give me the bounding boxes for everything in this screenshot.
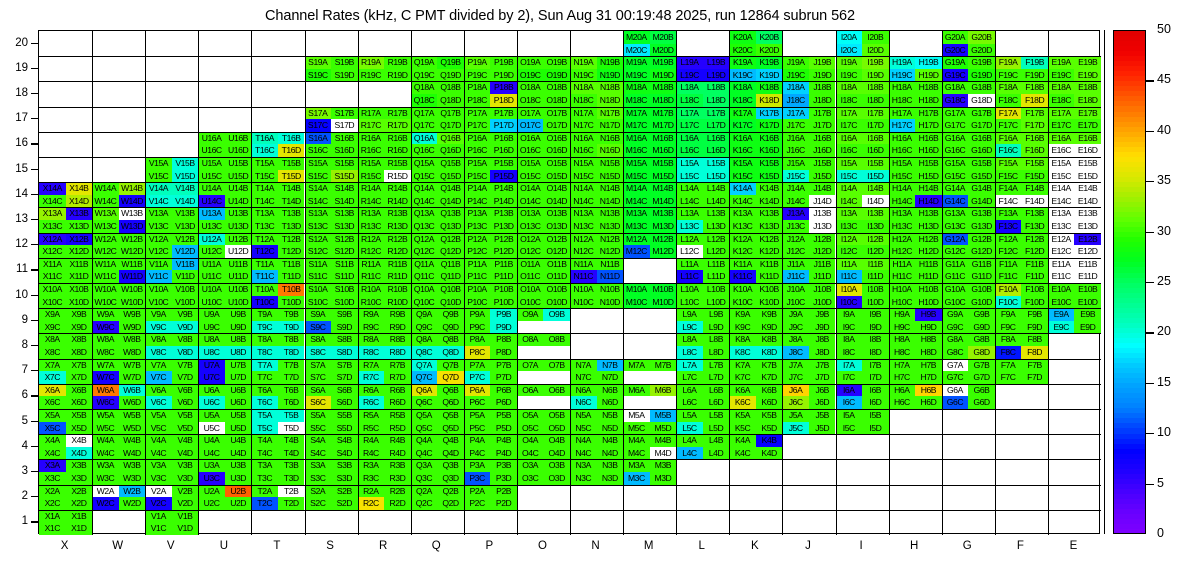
channel-S17B: S17B [331,107,358,120]
channel-E9B: E9B [1074,308,1101,321]
channel-N18C: N18C [570,94,597,107]
channel-S17C: S17C [305,119,332,132]
channel-H12C: H12C [889,245,916,258]
channel-X1D: X1D [66,522,93,535]
channel-G16B: G16B [968,132,995,145]
channel-U5A: U5A [198,409,225,422]
channel-H14B: H14B [915,182,942,195]
channel-N13D: N13D [597,220,624,233]
channel-U7B: U7B [225,359,252,372]
channel-Q16C: Q16C [411,144,438,157]
grid-line-horizontal [39,333,1101,334]
channel-M13C: M13C [623,220,650,233]
y-axis-label-8: 8 [0,339,28,351]
channel-F10B: F10B [1021,283,1048,296]
channel-T3B: T3B [278,459,305,472]
channel-S15D: S15D [331,170,358,183]
channel-X9A: X9A [39,308,66,321]
channel-J8B: J8B [809,333,836,346]
channel-L17B: L17B [703,107,730,120]
channel-O4D: O4D [543,447,570,460]
channel-P12C: P12C [464,245,491,258]
channel-M12D: M12D [650,245,677,258]
channel-W5B: W5B [119,409,146,422]
channel-Q19C: Q19C [411,69,438,82]
channel-L7D: L7D [703,371,730,384]
y-axis-label-18: 18 [0,87,28,99]
channel-X8A: X8A [39,333,66,346]
channel-S9A: S9A [305,308,332,321]
channel-W13A: W13A [92,207,119,220]
channel-V12A: V12A [145,233,172,246]
y-axis-label-3: 3 [0,465,28,477]
grid-cell: R14AR14BR14CR14D [358,182,411,207]
grid-cell: T15AT15BT15CT15D [251,157,304,182]
grid-cell: G10AG10BG10CG10D [942,283,995,308]
grid-cell: S7AS7BS7CS7D [305,359,358,384]
grid-cell: R15AR15BR15CR15D [358,157,411,182]
channel-K12B: K12B [756,233,783,246]
channel-I9B: I9B [862,308,889,321]
channel-I18C: I18C [836,94,863,107]
channel-J17B: J17B [809,107,836,120]
channel-U5B: U5B [225,409,252,422]
channel-P13C: P13C [464,220,491,233]
channel-E17B: E17B [1074,107,1101,120]
channel-H9A: H9A [889,308,916,321]
channel-P7A: P7A [464,359,491,372]
grid-cell: G6AG6BG6CG6D [942,384,995,409]
grid-cell: M7AM7B [623,359,676,384]
grid-cell: H7AH7BH7CH7D [889,359,942,384]
channel-T2A: T2A [251,485,278,498]
channel-H18C: H18C [889,94,916,107]
channel-V3C: V3C [145,472,172,485]
channel-L5A: L5A [676,409,703,422]
channel-M18C: M18C [623,94,650,107]
channel-K12C: K12C [729,245,756,258]
grid-cell: P18AP18BP18CP18D [464,81,517,106]
channel-M15A: M15A [623,157,650,170]
channel-I16A: I16A [836,132,863,145]
channel-X11C: X11C [39,270,66,283]
channel-R4B: R4B [384,434,411,447]
channel-N13A: N13A [570,207,597,220]
channel-W3B: W3B [119,459,146,472]
channel-L18B: L18B [703,81,730,94]
channel-S6A: S6A [305,384,332,397]
grid-cell: L4AL4BL4CL4D [676,434,729,459]
channel-O18A: O18A [517,81,544,94]
channel-K7C: K7C [729,371,756,384]
channel-W8B: W8B [119,333,146,346]
channel-V7C: V7C [145,371,172,384]
channel-S3D: S3D [331,472,358,485]
grid-cell: H10AH10BH10CH10D [889,283,942,308]
channel-X10D: X10D [66,296,93,309]
channel-M12A: M12A [623,233,650,246]
grid-cell: W5AW5BW5CW5D [92,409,145,434]
grid-cell: Q19AQ19BQ19CQ19D [411,56,464,81]
channel-E13B: E13B [1074,207,1101,220]
channel-U11A: U11A [198,258,225,271]
channel-H16A: H16A [889,132,916,145]
y-axis-label-14: 14 [0,188,28,200]
channel-Q17B: Q17B [437,107,464,120]
grid-cell: O19AO19BO19CO19D [517,56,570,81]
grid-cell: V8AV8BV8CV8D [145,333,198,358]
channel-N16B: N16B [597,132,624,145]
channel-H9B: H9B [915,308,942,321]
grid-cell: R13AR13BR13CR13D [358,207,411,232]
channel-P17A: P17A [464,107,491,120]
channel-I8D: I8D [862,346,889,359]
channel-T14A: T14A [251,182,278,195]
channel-I7A: I7A [836,359,863,372]
channel-F11C: F11C [995,270,1022,283]
x-axis-label-L: L [682,540,722,552]
channel-I7C: I7C [836,371,863,384]
channel-U13A: U13A [198,207,225,220]
channel-S13D: S13D [331,220,358,233]
grid-cell: S13AS13BS13CS13D [305,207,358,232]
channel-V3A: V3A [145,459,172,472]
channel-L9B: L9B [703,308,730,321]
channel-R16B: R16B [384,132,411,145]
channel-Q17D: Q17D [437,119,464,132]
channel-M17A: M17A [623,107,650,120]
grid-cell: P7AP7BP7CP7D [464,359,517,384]
channel-V8D: V8D [172,346,199,359]
channel-K15D: K15D [756,170,783,183]
channel-N18D: N18D [597,94,624,107]
channel-O5A: O5A [517,409,544,422]
grid-cell: Q11AQ11BQ11CQ11D [411,258,464,283]
grid-cell: J12AJ12BJ12CJ12D [782,233,835,258]
channel-Q18C: Q18C [411,94,438,107]
channel-K18A: K18A [729,81,756,94]
channel-U3D: U3D [225,472,252,485]
channel-X10B: X10B [66,283,93,296]
channel-X8D: X8D [66,346,93,359]
channel-T14D: T14D [278,195,305,208]
channel-X12D: X12D [66,245,93,258]
channel-P18B: P18B [490,81,517,94]
channel-L16D: L16D [703,144,730,157]
grid-cell: I8AI8BI8CI8D [836,333,889,358]
channel-M20C: M20C [623,44,650,57]
channel-E9D: E9D [1074,321,1101,334]
channel-X4B: X4B [66,434,93,447]
channel-T10B: T10B [278,283,305,296]
channel-R2C: R2C [358,497,385,510]
channel-R19A: R19A [358,56,385,69]
channel-K13A: K13A [729,207,756,220]
grid-cell: L12AL12BL12CL12D [676,233,729,258]
channel-M12C: M12C [623,245,650,258]
grid-line-horizontal [39,485,1101,486]
channel-P6A: P6A [464,384,491,397]
channel-X5C: X5C [39,422,66,435]
channel-L11D: L11D [703,270,730,283]
channel-R7D: R7D [384,371,411,384]
channel-U13C: U13C [198,220,225,233]
channel-F17B: F17B [1021,107,1048,120]
grid-cell: F7AF7BF7CF7D [995,359,1048,384]
channel-H14C: H14C [889,195,916,208]
grid-cell: F13AF13BF13CF13D [995,207,1048,232]
channel-R13D: R13D [384,220,411,233]
grid-cell: I11AI11BI11CI11D [836,258,889,283]
channel-G11B: G11B [968,258,995,271]
channel-Q3C: Q3C [411,472,438,485]
channel-K18B: K18B [756,81,783,94]
channel-N4D: N4D [597,447,624,460]
channel-V7B: V7B [172,359,199,372]
grid-cell: T13AT13BT13CT13D [251,207,304,232]
channel-Q7A: Q7A [411,359,438,372]
channel-S7B: S7B [331,359,358,372]
channel-W5D: W5D [119,422,146,435]
grid-cell: R9AR9BR9CR9D [358,308,411,333]
grid-cell: L9AL9BL9CL9D [676,308,729,333]
channel-S4D: S4D [331,447,358,460]
grid-cell: P2AP2BP2CP2D [464,485,517,510]
channel-L6C: L6C [676,396,703,409]
grid-cell: R12AR12BR12CR12D [358,233,411,258]
channel-R7C: R7C [358,371,385,384]
channel-G14C: G14C [942,195,969,208]
channel-O12B: O12B [543,233,570,246]
channel-Q19D: Q19D [437,69,464,82]
channel-U14C: U14C [198,195,225,208]
grid-cell: N11AN11BN11CN11D [570,258,623,283]
channel-L18D: L18D [703,94,730,107]
channel-I14D: I14D [862,195,889,208]
grid-cell: X7AX7BX7CX7D [39,359,92,384]
channel-K5C: K5C [729,422,756,435]
y-axis-tick [31,43,38,44]
channel-M14D: M14D [650,195,677,208]
channel-L7A: L7A [676,359,703,372]
x-axis-label-K: K [735,540,775,552]
y-axis-label-12: 12 [0,238,28,250]
channel-T16B: T16B [278,132,305,145]
grid-cell: K17AK17BK17CK17D [729,107,782,132]
channel-W6C: W6C [92,396,119,409]
channel-F11A: F11A [995,258,1022,271]
channel-M3A: M3A [623,459,650,472]
channel-W5A: W5A [92,409,119,422]
channel-K4B: K4B [756,434,783,447]
channel-H17D: H17D [915,119,942,132]
channel-O16B: O16B [543,132,570,145]
channel-N14A: N14A [570,182,597,195]
channel-N17C: N17C [570,119,597,132]
channel-Q7D: Q7D [437,371,464,384]
channel-S17A: S17A [305,107,332,120]
channel-G8C: G8C [942,346,969,359]
channel-M14C: M14C [623,195,650,208]
grid-cell: I15AI15BI15CI15D [836,157,889,182]
channel-E16A: E16A [1048,132,1075,145]
grid-cell: M15AM15BM15CM15D [623,157,676,182]
grid-cell: K15AK15BK15CK15D [729,157,782,182]
channel-N17B: N17B [597,107,624,120]
channel-P12A: P12A [464,233,491,246]
x-axis-label-H: H [894,540,934,552]
channel-O9B: O9B [543,308,570,321]
channel-R2D: R2D [384,497,411,510]
channel-T7D: T7D [278,371,305,384]
channel-J7D: J7D [809,371,836,384]
channel-G7B: G7B [968,359,995,372]
grid-cell: O8AO8B [517,333,570,358]
grid-cell: N16AN16BN16CN16D [570,132,623,157]
channel-M6A: M6A [623,384,650,397]
channel-I15A: I15A [836,157,863,170]
channel-J17C: J17C [782,119,809,132]
channel-N3C: N3C [570,472,597,485]
channel-J10D: J10D [809,296,836,309]
channel-F12C: F12C [995,245,1022,258]
grid-cell: W11AW11BW11CW11D [92,258,145,283]
grid-cell [1048,333,1101,358]
channel-L18A: L18A [676,81,703,94]
channel-J13A: J13A [782,207,809,220]
grid-cell: G11AG11BG11CG11D [942,258,995,283]
channel-Q6A: Q6A [411,384,438,397]
grid-cell: R16AR16BR16CR16D [358,132,411,157]
channel-U14A: U14A [198,182,225,195]
grid-cell: U12AU12BU12CU12D [198,233,251,258]
grid-cell: I10AI10BI10CI10D [836,283,889,308]
channel-O18D: O18D [543,94,570,107]
channel-K12D: K12D [756,245,783,258]
channel-N7C: N7C [570,371,597,384]
x-axis-label-G: G [947,540,987,552]
channel-H17C: H17C [889,119,916,132]
channel-X6A: X6A [39,384,66,397]
channel-X1C: X1C [39,522,66,535]
y-axis-tick [31,370,38,371]
channel-R16C: R16C [358,144,385,157]
channel-R8D: R8D [384,346,411,359]
grid-cell: H15AH15BH15CH15D [889,157,942,182]
channel-R10B: R10B [384,283,411,296]
grid-cell: X12AX12BX12CX12D [39,233,92,258]
channel-Q7B: Q7B [437,359,464,372]
channel-N12C: N12C [570,245,597,258]
channel-T6D: T6D [278,396,305,409]
grid-cell: N13AN13BN13CN13D [570,207,623,232]
channel-P19C: P19C [464,69,491,82]
channel-J8A: J8A [782,333,809,346]
channel-G17C: G17C [942,119,969,132]
channel-S4B: S4B [331,434,358,447]
channel-K20A: K20A [729,31,756,44]
channel-K15C: K15C [729,170,756,183]
channel-I6D: I6D [862,396,889,409]
channel-N5D: N5D [597,422,624,435]
channel-E10B: E10B [1074,283,1101,296]
channel-U13B: U13B [225,207,252,220]
channel-V9B: V9B [172,308,199,321]
channel-V11B: V11B [172,258,199,271]
channel-L11C: L11C [676,270,703,283]
grid-cell: G9AG9BG9CG9D [942,308,995,333]
channel-T9D: T9D [278,321,305,334]
channel-Q5D: Q5D [437,422,464,435]
channel-R17D: R17D [384,119,411,132]
grid-cell: V9AV9BV9CV9D [145,308,198,333]
channel-R5B: R5B [384,409,411,422]
y-axis-tick [31,143,38,144]
grid-cell: P19AP19BP19CP19D [464,56,517,81]
grid-cell: E11AE11BE11CE11D [1048,258,1101,283]
grid-cell: S3AS3BS3CS3D [305,459,358,484]
channel-Q5A: Q5A [411,409,438,422]
channel-T15B: T15B [278,157,305,170]
channel-O6B: O6B [543,384,570,397]
channel-T6C: T6C [251,396,278,409]
channel-X14B: X14B [66,182,93,195]
channel-Q13A: Q13A [411,207,438,220]
channel-X11A: X11A [39,258,66,271]
channel-N17A: N17A [570,107,597,120]
channel-R10A: R10A [358,283,385,296]
channel-E11B: E11B [1074,258,1101,271]
channel-N6C: N6C [570,396,597,409]
grid-cell: O11AO11BO11CO11D [517,258,570,283]
channel-Q2C: Q2C [411,497,438,510]
channel-J7B: J7B [809,359,836,372]
channel-R8C: R8C [358,346,385,359]
channel-S19B: S19B [331,56,358,69]
channel-P4B: P4B [490,434,517,447]
channel-T9A: T9A [251,308,278,321]
channel-S2D: S2D [331,497,358,510]
grid-cell: N4AN4BN4CN4D [570,434,623,459]
grid-cell: T6AT6BT6CT6D [251,384,304,409]
x-axis-label-V: V [151,540,191,552]
channel-U16A: U16A [198,132,225,145]
channel-G18C: G18C [942,94,969,107]
colorbar-label-30: 30 [1157,225,1171,237]
x-axis-label-S: S [310,540,350,552]
channel-Q18B: Q18B [437,81,464,94]
grid-cell: F10AF10BF10CF10D [995,283,1048,308]
channel-X11B: X11B [66,258,93,271]
grid-line-horizontal [39,182,1101,183]
channel-U16D: U16D [225,144,252,157]
grid-cell: Q13AQ13BQ13CQ13D [411,207,464,232]
channel-W11B: W11B [119,258,146,271]
channel-N19C: N19C [570,69,597,82]
channel-F14C: F14C [995,195,1022,208]
channel-T6B: T6B [278,384,305,397]
grid-cell [1048,384,1101,409]
channel-W7D: W7D [119,371,146,384]
channel-R13A: R13A [358,207,385,220]
channel-V8C: V8C [145,346,172,359]
channel-Q9C: Q9C [411,321,438,334]
channel-O9A: O9A [517,308,544,321]
channel-G18B: G18B [968,81,995,94]
channel-U3C: U3C [198,472,225,485]
grid-cell: H14AH14BH14CH14D [889,182,942,207]
channel-M10D: M10D [650,296,677,309]
